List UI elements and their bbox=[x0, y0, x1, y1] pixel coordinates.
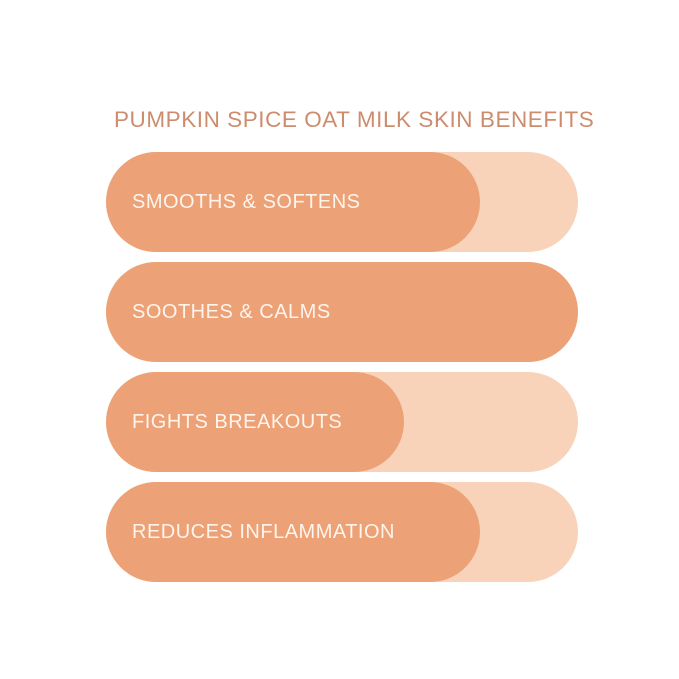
bar-row: SOOTHES & CALMS bbox=[106, 262, 578, 362]
bar-row: REDUCES INFLAMMATION bbox=[106, 482, 578, 582]
bar-row: SMOOTHS & SOFTENS bbox=[106, 152, 578, 252]
bar-row: FIGHTS BREAKOUTS bbox=[106, 372, 578, 472]
bar-fill bbox=[106, 482, 480, 582]
bar-fill bbox=[106, 372, 404, 472]
infographic-container: PUMPKIN SPICE OAT MILK SKIN BENEFITS SMO… bbox=[0, 0, 679, 679]
benefits-bar-chart: SMOOTHS & SOFTENS SOOTHES & CALMS FIGHTS… bbox=[106, 152, 578, 582]
page-title: PUMPKIN SPICE OAT MILK SKIN BENEFITS bbox=[114, 107, 580, 133]
bar-fill bbox=[106, 152, 480, 252]
bar-fill bbox=[106, 262, 578, 362]
